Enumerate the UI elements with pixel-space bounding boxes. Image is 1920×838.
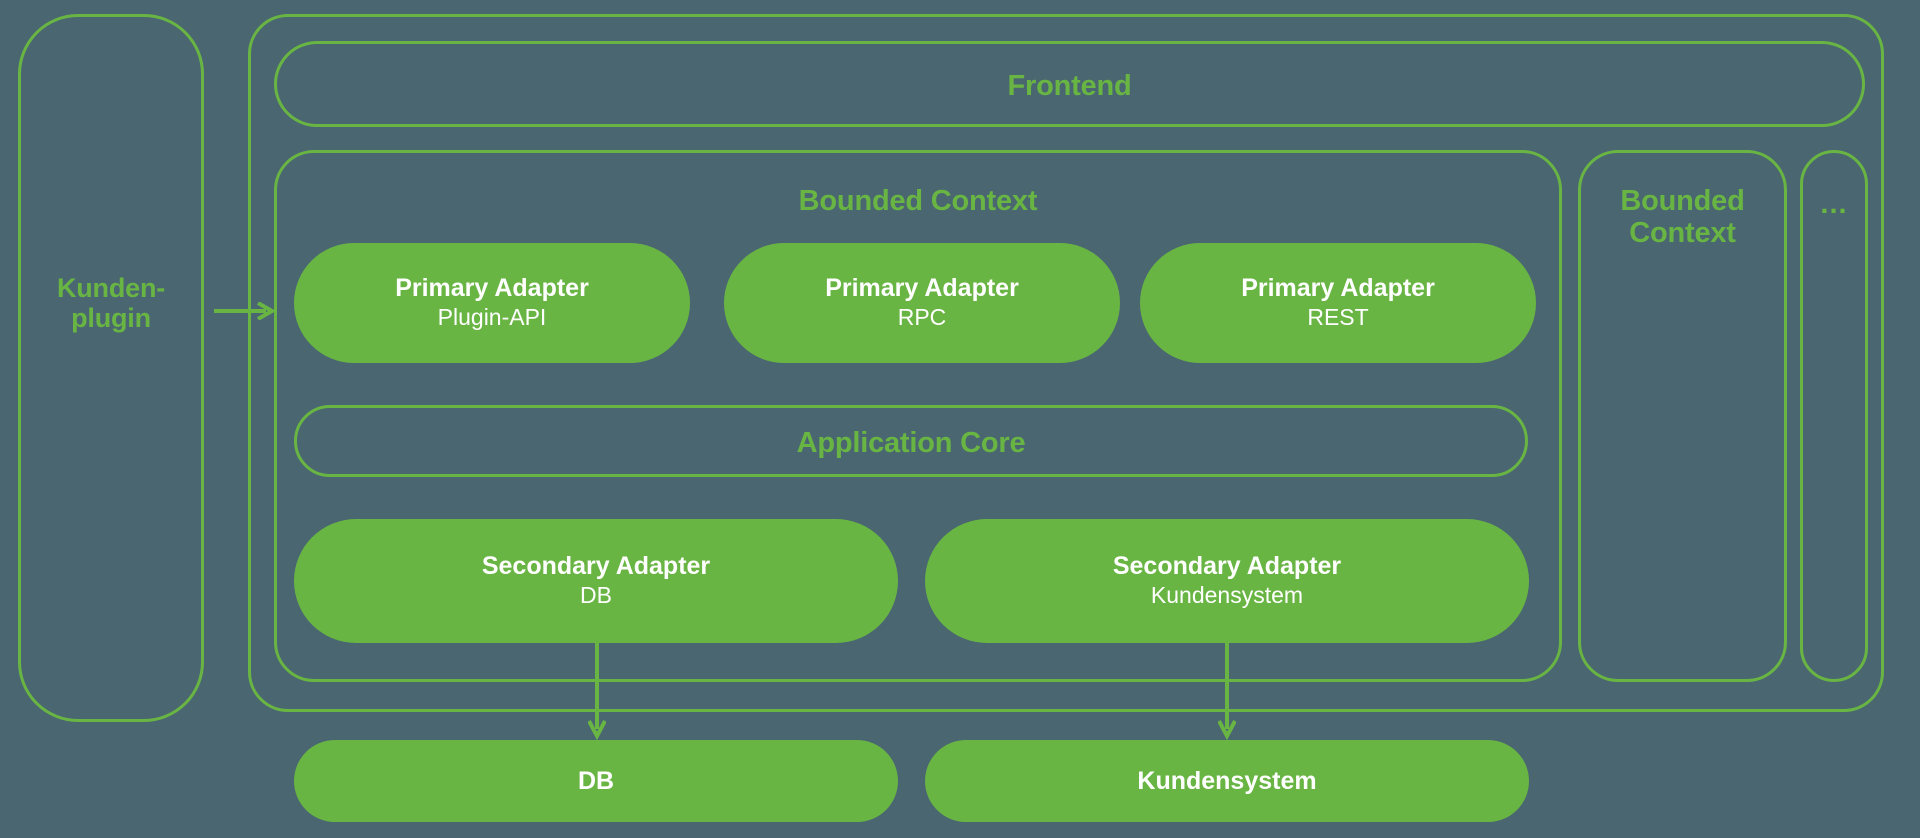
frontend-label: Frontend [274,70,1865,102]
external-system-card[interactable]: Kundensystem [925,740,1529,822]
ellipsis-icon: ... [1800,188,1868,220]
application-core-label: Application Core [294,427,1528,459]
primary-adapter-subtitle: RPC [898,304,947,332]
secondary-adapter-title: Secondary Adapter [1113,552,1341,581]
secondary-adapter-card[interactable]: Secondary Adapter DB [294,519,898,643]
primary-adapter-card[interactable]: Primary Adapter RPC [724,243,1120,363]
external-system-card[interactable]: DB [294,740,898,822]
primary-adapter-card[interactable]: Primary Adapter REST [1140,243,1536,363]
bounded-context-more-container [1800,150,1868,682]
bounded-context-secondary-title-line2: Context [1578,217,1787,249]
primary-adapter-title: Primary Adapter [825,274,1019,303]
bounded-context-secondary-title: Bounded Context [1578,185,1787,250]
kundenplugin-label: Kunden- plugin [18,273,204,333]
bounded-context-main-title: Bounded Context [274,185,1562,217]
external-system-label: DB [578,767,614,796]
external-system-label: Kundensystem [1137,767,1316,796]
primary-adapter-subtitle: REST [1307,304,1368,332]
primary-adapter-card[interactable]: Primary Adapter Plugin-API [294,243,690,363]
bounded-context-secondary-title-line1: Bounded [1578,185,1787,217]
kundenplugin-container [18,14,204,722]
arrow-down-icon [1218,643,1236,740]
secondary-adapter-subtitle: Kundensystem [1151,582,1303,610]
secondary-adapter-title: Secondary Adapter [482,552,710,581]
secondary-adapter-card[interactable]: Secondary Adapter Kundensystem [925,519,1529,643]
architecture-diagram: Kunden- plugin Frontend Bounded Context … [0,0,1920,838]
kundenplugin-label-line2: plugin [18,303,204,333]
primary-adapter-title: Primary Adapter [395,274,589,303]
primary-adapter-subtitle: Plugin-API [438,304,547,332]
secondary-adapter-subtitle: DB [580,582,612,610]
arrow-down-icon [588,643,606,740]
primary-adapter-title: Primary Adapter [1241,274,1435,303]
kundenplugin-label-line1: Kunden- [18,273,204,303]
